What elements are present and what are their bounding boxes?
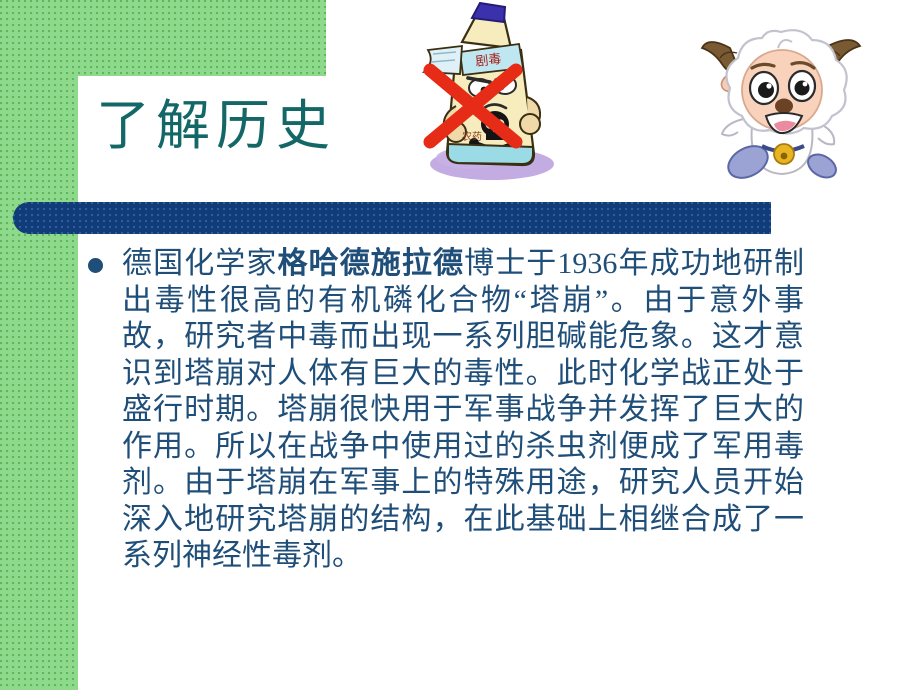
slide-canvas: 剧毒 [0,0,920,690]
green-left-strip [0,0,78,690]
list-item: 德国化学家格哈德施拉德博士于1936年成功地研制出毒性很高的有机磷化合物“塔崩”… [88,246,804,575]
pleasant-goat-icon [690,6,872,192]
title-underline-bar [13,202,771,234]
paragraph-run-0: 德国化学家 [122,247,278,280]
bullet-dot-icon [88,258,103,273]
paragraph-run-1: 格哈德施拉德 [278,247,465,280]
paragraph-run-2: 博士于1936年成功地研制出毒性很高的有机磷化合物“塔崩”。由于意外事故，研究者… [122,247,804,572]
svg-text:农药: 农药 [462,130,482,143]
poison-bottle-icon: 剧毒 [400,2,580,194]
page-title: 了解历史 [96,94,336,158]
svg-text:剧毒: 剧毒 [475,51,503,69]
body-paragraph: 德国化学家格哈德施拉德博士于1936年成功地研制出毒性很高的有机磷化合物“塔崩”… [122,246,804,575]
content-body: 德国化学家格哈德施拉德博士于1936年成功地研制出毒性很高的有机磷化合物“塔崩”… [88,246,804,575]
